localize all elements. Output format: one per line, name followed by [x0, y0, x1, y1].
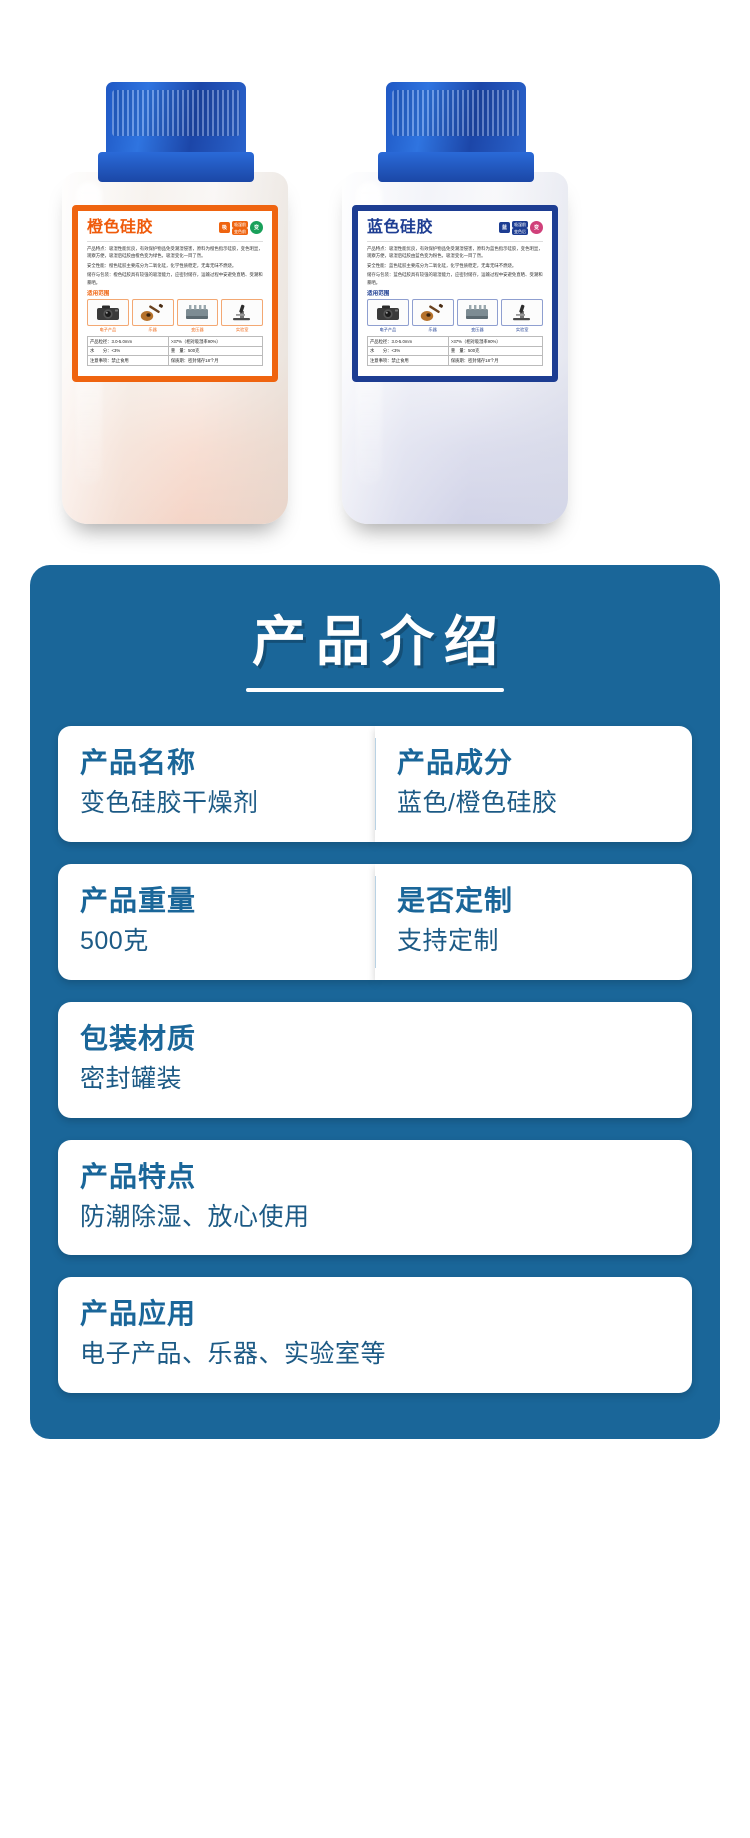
info-card-value: 蓝色/橙色硅胶: [397, 787, 670, 821]
label-title: 橙色硅胶: [87, 219, 153, 237]
camera-icon: [367, 299, 409, 326]
scope-item: 乐器: [132, 299, 174, 333]
info-card-value: 密封罐装: [80, 1063, 670, 1097]
scope-item: 电子产品: [367, 299, 409, 333]
info-card-label: 产品名称: [80, 745, 353, 780]
scope-caption: 实验室: [221, 327, 263, 333]
scope-caption: 电子产品: [87, 327, 129, 333]
info-card-label: 产品应用: [80, 1296, 670, 1331]
absorb-badge-icon: 吸: [219, 222, 230, 233]
camera-icon: [87, 299, 129, 326]
info-card-label: 产品成分: [397, 745, 670, 780]
table-row: 注意事项：禁止食用 保质期：密封储存18个月: [368, 356, 543, 366]
scope-item: 实验室: [221, 299, 263, 333]
spec-cell: 重 量：500克: [168, 346, 262, 356]
info-card-product-composition[interactable]: 产品成分 蓝色/橙色硅胶: [375, 726, 692, 842]
table-row: 产品粒径：3.0-5.0mm >37%（相对吸湿率90%）: [368, 336, 543, 346]
product-info-panel: 产品介绍 产品名称 变色硅胶干燥剂 产品成分 蓝色/橙色硅胶 产品重量 500克…: [30, 565, 720, 1439]
scope-item: 变压器: [457, 299, 499, 333]
before-absorb-badge: 吸湿前: [232, 221, 248, 228]
spec-cell: 保质期：密封储存18个月: [448, 356, 542, 366]
label-badges: 蓝 吸湿前 变色后 变: [499, 221, 543, 235]
info-card-value: 支持定制: [397, 925, 670, 959]
spec-table: 产品粒径：3.0-5.0mm >37%（相对吸湿率90%） 水 分：<3% 重 …: [367, 336, 543, 366]
info-card-customizable[interactable]: 是否定制 支持定制: [375, 864, 692, 980]
scope-item: 乐器: [412, 299, 454, 333]
spec-cell: >37%（相对吸湿率90%）: [168, 336, 262, 346]
info-row: 产品名称 变色硅胶干燥剂 产品成分 蓝色/橙色硅胶: [58, 726, 692, 842]
label-title: 蓝色硅胶: [367, 219, 433, 237]
info-row: 包装材质 密封罐装: [58, 1002, 692, 1118]
info-row: 产品特点 防潮除湿、放心使用: [58, 1140, 692, 1256]
bottle-cap-collar: [378, 152, 534, 182]
after-color-badge: 变色前: [232, 228, 248, 235]
scope-caption: 变压器: [457, 327, 499, 333]
scope-icon-row: 电子产品 乐器: [367, 299, 543, 333]
absorb-badge-icon: 蓝: [499, 222, 510, 233]
product-detail-page: 橙色硅胶 吸 吸湿前 变色前 变 产品特点：吸湿性能优良，有效保护物品免受潮湿侵…: [0, 0, 750, 1479]
guitar-icon: [412, 299, 454, 326]
product-bottle-orange[interactable]: 橙色硅胶 吸 吸湿前 变色前 变 产品特点：吸湿性能优良，有效保护物品免受潮湿侵…: [50, 60, 300, 510]
table-row: 水 分：<3% 重 量：500克: [88, 346, 263, 356]
spec-table: 产品粒径：3.0-5.0mm >37%（相对吸湿率90%） 水 分：<3% 重 …: [87, 336, 263, 366]
label-divider: [87, 241, 263, 242]
label-header: 蓝色硅胶 蓝 吸湿前 变色后 变: [367, 219, 543, 239]
transformer-icon: [177, 299, 219, 326]
scope-heading: 适用范围: [87, 289, 263, 297]
info-card-packaging-material[interactable]: 包装材质 密封罐装: [58, 1002, 692, 1118]
label-badges: 吸 吸湿前 变色前 变: [219, 221, 263, 235]
transformer-icon: [457, 299, 499, 326]
microscope-icon: [501, 299, 543, 326]
color-change-badge-icon: 变: [250, 221, 263, 234]
panel-title-block: 产品介绍: [58, 613, 692, 692]
label-paragraph: 储存与包装：蓝色硅胶具有较强的吸湿能力，应密封储存，运输过程中安避免直晒、受潮和…: [367, 271, 543, 286]
scope-icon-row: 电子产品 乐器: [87, 299, 263, 333]
info-card-value: 防潮除湿、放心使用: [80, 1201, 670, 1235]
title-underline: [246, 688, 504, 692]
scope-caption: 电子产品: [367, 327, 409, 333]
info-card-value: 电子产品、乐器、实验室等: [80, 1338, 670, 1372]
info-card-label: 是否定制: [397, 883, 670, 918]
spec-cell: 注意事项：禁止食用: [368, 356, 449, 366]
scope-caption: 实验室: [501, 327, 543, 333]
label-paragraph: 产品特点：吸湿性能优良，有效保护物品免受潮湿侵害，原料为蓝色指示硅胶，变色明显，…: [367, 245, 543, 260]
spec-cell: 水 分：<3%: [368, 346, 449, 356]
table-row: 水 分：<3% 重 量：500克: [368, 346, 543, 356]
spec-cell: 产品粒径：3.0-5.0mm: [368, 336, 449, 346]
label-paragraph: 产品特点：吸湿性能优良，有效保护物品免受潮湿侵害，原料为橙色指示硅胶，变色明显，…: [87, 245, 263, 260]
scope-item: 电子产品: [87, 299, 129, 333]
info-card-label: 产品特点: [80, 1159, 670, 1194]
table-row: 产品粒径：3.0-5.0mm >37%（相对吸湿率90%）: [88, 336, 263, 346]
bottle-cap-collar: [98, 152, 254, 182]
info-card-value: 500克: [80, 925, 353, 959]
spec-cell: 注意事项：禁止食用: [88, 356, 169, 366]
spec-cell: 产品粒径：3.0-5.0mm: [88, 336, 169, 346]
color-change-badge-icon: 变: [530, 221, 543, 234]
product-label-orange: 橙色硅胶 吸 吸湿前 变色前 变 产品特点：吸湿性能优良，有效保护物品免受潮湿侵…: [72, 205, 278, 382]
bottle-cap: [106, 82, 246, 160]
spec-cell: >37%（相对吸湿率90%）: [448, 336, 542, 346]
info-card-label: 产品重量: [80, 883, 353, 918]
product-label-blue: 蓝色硅胶 蓝 吸湿前 变色后 变 产品特点：吸湿性能优良，有效保护物品免受潮湿侵…: [352, 205, 558, 382]
product-bottle-blue[interactable]: 蓝色硅胶 蓝 吸湿前 变色后 变 产品特点：吸湿性能优良，有效保护物品免受潮湿侵…: [330, 60, 580, 510]
spec-cell: 重 量：500克: [448, 346, 542, 356]
info-card-label: 包装材质: [80, 1021, 670, 1056]
info-card-product-features[interactable]: 产品特点 防潮除湿、放心使用: [58, 1140, 692, 1256]
info-card-product-weight[interactable]: 产品重量 500克: [58, 864, 375, 980]
label-paragraph: 安全性能：橙色硅胶主要成分为二氧化硅，化学性质稳定，无毒无味不燃烧。: [87, 262, 263, 269]
product-photo-section: 橙色硅胶 吸 吸湿前 变色前 变 产品特点：吸湿性能优良，有效保护物品免受潮湿侵…: [0, 0, 750, 565]
spec-cell: 水 分：<3%: [88, 346, 169, 356]
bottle-cap: [386, 82, 526, 160]
scope-caption: 变压器: [177, 327, 219, 333]
info-card-value: 变色硅胶干燥剂: [80, 787, 353, 821]
label-header: 橙色硅胶 吸 吸湿前 变色前 变: [87, 219, 263, 239]
after-color-badge: 变色后: [512, 228, 528, 235]
page-title: 产品介绍: [242, 613, 508, 672]
label-divider: [367, 241, 543, 242]
info-row: 产品重量 500克 是否定制 支持定制: [58, 864, 692, 980]
before-absorb-badge: 吸湿前: [512, 221, 528, 228]
scope-caption: 乐器: [412, 327, 454, 333]
label-paragraph: 储存与包装：橙色硅胶具有较强的吸湿能力，应密封储存，运输过程中安避免直晒、受潮和…: [87, 271, 263, 286]
info-row: 产品应用 电子产品、乐器、实验室等: [58, 1277, 692, 1393]
guitar-icon: [132, 299, 174, 326]
scope-item: 变压器: [177, 299, 219, 333]
microscope-icon: [221, 299, 263, 326]
spec-cell: 保质期：密封储存18个月: [168, 356, 262, 366]
scope-heading: 适用范围: [367, 289, 543, 297]
scope-item: 实验室: [501, 299, 543, 333]
label-paragraph: 安全性能：蓝色硅胶主要成分为二氧化硅，化学性质稳定，无毒无味不燃烧。: [367, 262, 543, 269]
table-row: 注意事项：禁止食用 保质期：密封储存18个月: [88, 356, 263, 366]
info-card-product-name[interactable]: 产品名称 变色硅胶干燥剂: [58, 726, 375, 842]
info-card-product-applications[interactable]: 产品应用 电子产品、乐器、实验室等: [58, 1277, 692, 1393]
scope-caption: 乐器: [132, 327, 174, 333]
